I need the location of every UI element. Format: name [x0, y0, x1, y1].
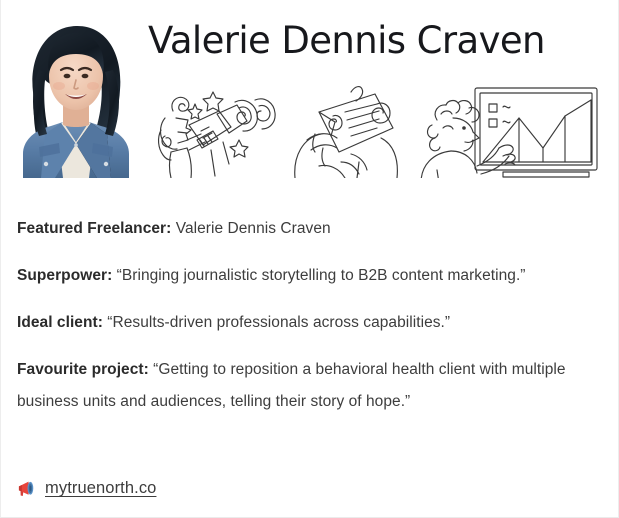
superpower-line: Superpower: “Bringing journalistic story… — [1, 260, 619, 292]
website-link[interactable]: mytruenorth.co — [45, 479, 156, 498]
megaphone-icon — [17, 478, 38, 499]
superpower-label: Superpower: — [17, 267, 112, 284]
freelancer-profile-card: Valerie Dennis Craven — [0, 0, 619, 518]
website-link-row[interactable]: mytruenorth.co — [17, 478, 156, 499]
telescope-illustration — [151, 78, 273, 178]
featured-freelancer-value: Valerie Dennis Craven — [171, 220, 330, 237]
profile-details: Featured Freelancer: Valerie Dennis Crav… — [1, 178, 619, 418]
superpower-value: “Bringing journalistic storytelling to B… — [112, 267, 525, 284]
ideal-client-line: Ideal client: “Results-driven profession… — [1, 307, 619, 339]
featured-freelancer-label: Featured Freelancer: — [17, 220, 171, 237]
presenting-illustration — [419, 78, 605, 178]
favourite-project-label: Favourite project: — [17, 361, 149, 378]
favourite-project-line: Favourite project: “Getting to repositio… — [1, 354, 619, 418]
avatar — [15, 14, 137, 178]
page-title: Valerie Dennis Craven — [148, 19, 545, 62]
ideal-client-value: “Results-driven professionals across cap… — [103, 314, 450, 331]
featured-freelancer-line: Featured Freelancer: Valerie Dennis Crav… — [1, 213, 619, 245]
reading-illustration — [289, 78, 409, 178]
profile-banner: Valerie Dennis Craven — [1, 0, 619, 178]
ideal-client-label: Ideal client: — [17, 314, 103, 331]
